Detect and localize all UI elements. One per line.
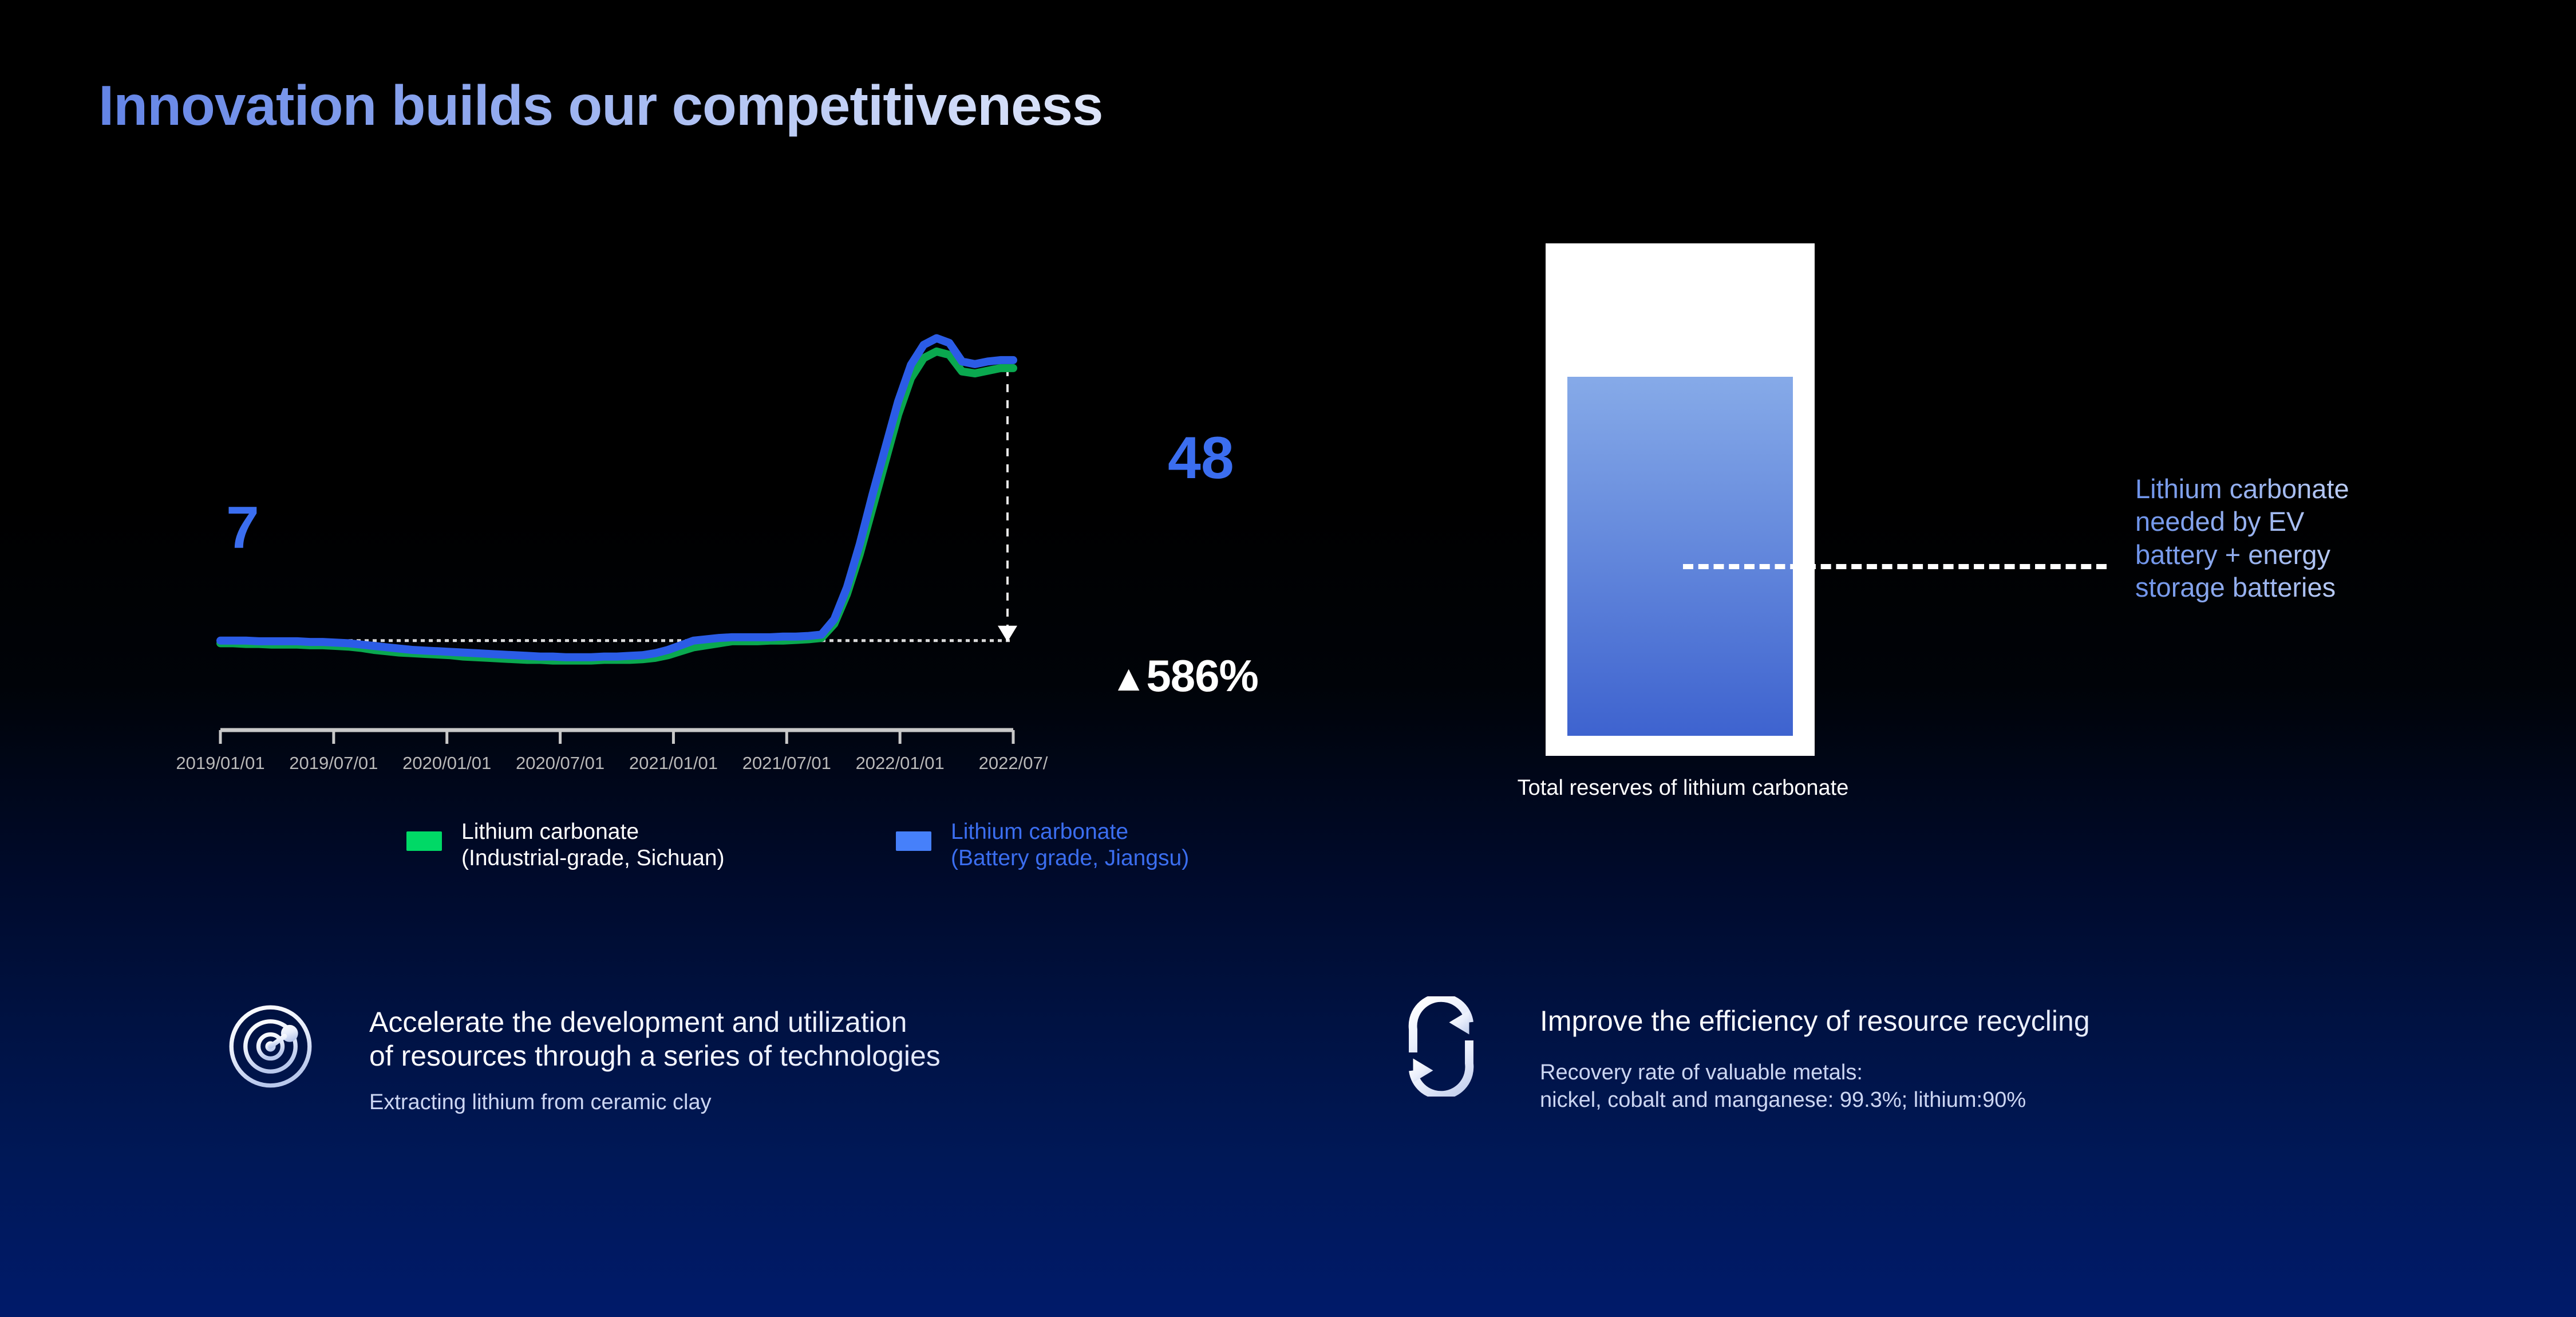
percent-change-label: ▲586% bbox=[1111, 650, 1258, 702]
x-axis-tick-label: 2020/07/01 bbox=[516, 753, 605, 774]
reserves-caption: Total reserves of lithium carbonate bbox=[1471, 776, 1895, 801]
x-axis-tick-label: 2021/07/01 bbox=[742, 753, 831, 774]
feature-block-resources: Accelerate the development and utilizati… bbox=[220, 996, 1194, 1117]
reserves-panel: Total reserves of lithium carbonate Lith… bbox=[1546, 243, 2519, 816]
series-line-industrial bbox=[220, 352, 1013, 661]
x-axis-tick-label: 2021/01/01 bbox=[629, 753, 718, 774]
feature-body: Accelerate the development and utilizati… bbox=[369, 1006, 1194, 1117]
feature-block-recycling: Improve the efficiency of resource recyc… bbox=[1391, 996, 2393, 1114]
feature-title: Accelerate the development and utilizati… bbox=[369, 1006, 1194, 1072]
x-axis-tick-label: 2020/01/01 bbox=[402, 753, 491, 774]
feature-subtitle: Extracting lithium from ceramic clay bbox=[369, 1089, 1194, 1117]
recycle-loop-icon bbox=[1391, 996, 1491, 1097]
start-value-label: 7 bbox=[226, 498, 259, 558]
x-axis-tick-label: 2022/07/ bbox=[979, 753, 1048, 774]
feature-title: Improve the efficiency of resource recyc… bbox=[1540, 1004, 2393, 1038]
feature-subtitle: Recovery rate of valuable metals: nickel… bbox=[1540, 1059, 2393, 1114]
series-line-battery bbox=[220, 338, 1013, 657]
target-radar-icon bbox=[220, 996, 321, 1097]
percent-change-value: 586% bbox=[1146, 650, 1258, 701]
x-axis-ticks bbox=[220, 730, 1013, 744]
page-title: Innovation builds our competitiveness bbox=[98, 73, 1103, 138]
legend-item-battery: Lithium carbonate (Battery grade, Jiangs… bbox=[896, 819, 1189, 872]
price-chart-panel: 7 48 ▲586% 2019/01/012019/07/012020/01/0… bbox=[143, 246, 1265, 888]
end-value-label: 48 bbox=[1168, 428, 1234, 488]
line-chart-svg bbox=[143, 246, 1265, 744]
reserves-fill-level bbox=[1567, 377, 1793, 736]
legend-item-industrial: Lithium carbonate (Industrial-grade, Sic… bbox=[406, 819, 725, 872]
line-chart-plot: 7 48 ▲586% bbox=[143, 246, 1265, 744]
legend-swatch-battery bbox=[896, 831, 931, 851]
slide-canvas: Innovation builds our competitiveness 7 … bbox=[0, 0, 2576, 1317]
reserves-level-marker bbox=[1683, 564, 2107, 569]
legend-label-battery: Lithium carbonate (Battery grade, Jiangs… bbox=[951, 819, 1189, 872]
x-axis-tick-label: 2022/01/01 bbox=[856, 753, 945, 774]
x-axis-tick-label: 2019/07/01 bbox=[289, 753, 378, 774]
x-axis-tick-labels: 2019/01/012019/07/012020/01/012020/07/01… bbox=[143, 753, 1265, 787]
legend-label-industrial: Lithium carbonate (Industrial-grade, Sic… bbox=[461, 819, 725, 872]
reserves-container bbox=[1546, 243, 1815, 756]
legend-swatch-industrial bbox=[406, 831, 442, 851]
x-axis-tick-label: 2019/01/01 bbox=[176, 753, 264, 774]
up-triangle-icon: ▲ bbox=[1111, 657, 1146, 699]
chart-legend: Lithium carbonate (Industrial-grade, Sic… bbox=[263, 819, 1265, 899]
reserves-callout-text: Lithium carbonate needed by EV battery +… bbox=[2135, 472, 2502, 604]
feature-body: Improve the efficiency of resource recyc… bbox=[1540, 1004, 2393, 1114]
